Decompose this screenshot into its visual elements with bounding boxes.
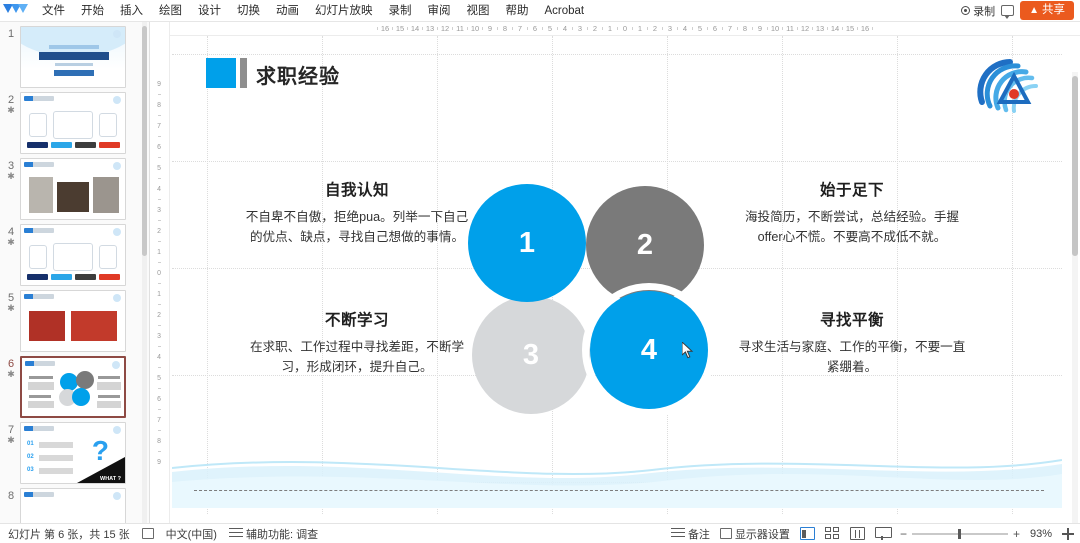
view-normal-icon[interactable] (800, 527, 815, 540)
slide-count-label: 幻灯片 第 6 张，共 15 张 (8, 526, 130, 542)
thumb-card (29, 245, 47, 269)
menu-items: 文件 开始 插入 绘图 设计 切换 动画 幻灯片放映 录制 审阅 视图 帮助 A… (34, 1, 592, 21)
thumb-line (98, 376, 120, 379)
thumb-number-01: 01 (27, 441, 34, 447)
thumb-title-bar (24, 426, 54, 431)
share-icon: ▲ (1029, 4, 1039, 17)
ruler-tick-label: 2 (158, 225, 162, 236)
thumb-line (55, 63, 93, 66)
powerpoint-window: 文件 开始 插入 绘图 设计 切换 动画 幻灯片放映 录制 审阅 视图 帮助 A… (0, 0, 1080, 543)
thumb-number: 6 (4, 356, 18, 370)
thumb-photo (29, 177, 53, 213)
ruler-tick-label: 9 (483, 24, 497, 33)
thumb-photo (57, 182, 89, 212)
ruler-tick-label: 14 (408, 24, 422, 33)
thumb-title-bar (24, 294, 54, 299)
thumb-title-bar (24, 96, 54, 101)
ruler-tick-label: 1 (158, 288, 162, 299)
record-button[interactable]: 录制 (961, 3, 995, 19)
menu-item-animation[interactable]: 动画 (268, 1, 307, 21)
thumb-line (28, 401, 54, 408)
wave-decoration (172, 438, 1062, 508)
ruler-tick-label: 6 (158, 393, 162, 404)
zoom-level-label[interactable]: 93% (1030, 528, 1052, 540)
menu-bar: 文件 开始 插入 绘图 设计 切换 动画 幻灯片放映 录制 审阅 视图 帮助 A… (0, 0, 1080, 22)
ruler-tick-label: 12 (438, 24, 452, 33)
ruler-tick-label: 0 (618, 24, 632, 33)
thumb-number: 4 (4, 224, 18, 238)
list-item[interactable]: 4 ✱ (0, 220, 149, 286)
thumb-logo-icon (113, 294, 121, 302)
thumb-photo (29, 311, 65, 341)
slide-thumbnail-8[interactable] (20, 488, 126, 523)
animation-star-icon: ✱ (4, 238, 18, 246)
text-block-self-awareness[interactable]: 自我认知 不自卑不自傲，拒绝pua。列举一下自己的优点、缺点，寻找自己想做的事情… (242, 178, 472, 247)
guide-line (172, 54, 1062, 55)
ruler-tick-label: 13 (813, 24, 827, 33)
thumb-bar (75, 274, 96, 280)
animation-star-icon: ✱ (4, 106, 18, 114)
list-item[interactable]: 6 ✱ (0, 352, 149, 418)
ruler-tick-label: 9 (753, 24, 767, 33)
thumb-logo-icon (113, 162, 121, 170)
ruler-tick-label: 4 (158, 351, 162, 362)
list-item[interactable]: 5 ✱ (0, 286, 149, 352)
thumb-bar (27, 274, 48, 280)
view-slideshow-icon[interactable] (875, 527, 890, 540)
thumb-bar (51, 274, 72, 280)
ruler-tick-label: 8 (158, 435, 162, 446)
ruler-tick-label: 1 (158, 246, 162, 257)
menu-item-home[interactable]: 开始 (73, 1, 112, 21)
animation-star-icon: ✱ (4, 304, 18, 312)
display-settings-button[interactable]: 显示器设置 (720, 526, 790, 542)
ruler-tick-label: 16 (858, 24, 872, 33)
circle-3[interactable]: 3 (472, 296, 590, 414)
status-left-group: 幻灯片 第 6 张，共 15 张 中文(中国) 辅助功能: 调查 (0, 526, 318, 542)
ruler-tick-label: 5 (543, 24, 557, 33)
thumb-bar (27, 142, 48, 148)
ruler-tick-label: 16 (378, 24, 392, 33)
ruler-tick-label: 10 (768, 24, 782, 33)
thumb-title-bar (25, 361, 55, 366)
ruler-tick-label: 15 (393, 24, 407, 33)
ruler-tick-label: 6 (528, 24, 542, 33)
thumb-number: 5 (4, 290, 18, 304)
ruler-tick-label: 4 (558, 24, 572, 33)
view-reading-icon[interactable] (850, 527, 865, 540)
thumb-card (99, 245, 117, 269)
ruler-tick-label: 1 (633, 24, 647, 33)
thumb-title-bar (24, 492, 54, 497)
comment-icon[interactable] (1001, 5, 1014, 16)
thumb-logo-icon (113, 30, 121, 38)
thumb-card (29, 113, 47, 137)
thumb-logo-icon (113, 426, 121, 434)
thumb-number: 3 (4, 158, 18, 172)
ruler-tick-label: 7 (158, 120, 162, 131)
display-settings-label: 显示器设置 (735, 526, 790, 542)
zoom-knob[interactable] (958, 529, 961, 539)
thumb-bar (99, 142, 120, 148)
thumb-line (97, 401, 121, 408)
thumb-line (49, 45, 99, 49)
animation-star-icon: ✱ (4, 370, 18, 378)
thumb-number: 2 (4, 92, 18, 106)
ruler-tick-label: 4 (678, 24, 692, 33)
menu-item-acrobat[interactable]: Acrobat (537, 1, 593, 21)
status-bar: 幻灯片 第 6 张，共 15 张 中文(中国) 辅助功能: 调查 备注 显示器设… (0, 523, 1080, 543)
block-heading: 始于足下 (737, 178, 967, 200)
ruler-tick-label: 2 (648, 24, 662, 33)
page-title[interactable]: 求职经验 (256, 60, 340, 89)
thumb-number: 7 (4, 422, 18, 436)
display-settings-icon (720, 528, 732, 539)
slide-thumbnail-6[interactable] (20, 356, 126, 418)
menu-item-view[interactable]: 视图 (459, 1, 498, 21)
list-item[interactable]: 3 ✱ (0, 154, 149, 220)
ruler-tick-label: 5 (693, 24, 707, 33)
layout-icon[interactable] (142, 528, 154, 539)
block-body: 不自卑不自傲，拒绝pua。列举一下自己的优点、缺点，寻找自己想做的事情。 (242, 207, 472, 247)
ruler-tick-label: 3 (573, 24, 587, 33)
thumb-logo-icon (113, 228, 121, 236)
notes-icon (671, 528, 685, 539)
ruler-tick-label: 5 (158, 162, 162, 173)
ruler-tick-label: 8 (498, 24, 512, 33)
thumb-circle-2 (76, 371, 94, 389)
list-item[interactable]: 2 ✱ (0, 88, 149, 154)
menu-item-insert[interactable]: 插入 (112, 1, 151, 21)
share-label: 共享 (1042, 4, 1065, 17)
ruler-tick-label: 6 (708, 24, 722, 33)
zoom-slider[interactable]: − + (900, 527, 1020, 541)
block-body: 寻求生活与家庭、工作的平衡，不要一直紧绷着。 (737, 337, 967, 377)
thumb-line (54, 70, 94, 76)
thumb-number: 1 (4, 26, 18, 40)
menu-item-transition[interactable]: 切换 (229, 1, 268, 21)
thumb-bar (51, 142, 72, 148)
menu-item-help[interactable]: 帮助 (498, 1, 537, 21)
block-body: 在求职、工作过程中寻找差距，不断学习，形成闭环，提升自己。 (242, 337, 472, 377)
wps-logo-icon (2, 1, 28, 21)
slide-thumbnail-1[interactable] (20, 26, 126, 88)
slide-thumbnail-7[interactable]: 01 02 03 ? WHAT ? (20, 422, 126, 484)
menu-item-draw[interactable]: 绘图 (151, 1, 190, 21)
ruler-tick-label: 9 (158, 456, 162, 467)
thumb-number-02: 02 (27, 454, 34, 460)
text-block-keep-learning[interactable]: 不断学习 在求职、工作过程中寻找差距，不断学习，形成闭环，提升自己。 (242, 308, 472, 377)
thumb-card (53, 243, 93, 271)
menu-item-review[interactable]: 审阅 (420, 1, 459, 21)
slide-thumbnail-2[interactable] (20, 92, 126, 154)
menu-item-file[interactable]: 文件 (34, 1, 73, 21)
zoom-track[interactable] (912, 533, 1008, 535)
ruler-tick-label: 14 (828, 24, 842, 33)
ruler-tick-label: 12 (798, 24, 812, 33)
menu-right-group: 录制 ▲ 共享 (961, 1, 1080, 20)
thumb-logo-icon (113, 96, 121, 104)
thumb-number-03: 03 (27, 467, 34, 473)
ruler-tick-label: 3 (158, 204, 162, 215)
thumb-circle-4 (72, 388, 90, 406)
ruler-tick-label: 1 (603, 24, 617, 33)
thumb-line (28, 382, 54, 390)
slide-thumbnail-5[interactable] (20, 290, 126, 352)
thumb-photo (71, 311, 117, 341)
slide-thumbnail-4[interactable] (20, 224, 126, 286)
ruler-tick-label: 0 (158, 267, 162, 278)
thumb-bar (75, 142, 96, 148)
block-heading: 不断学习 (242, 308, 472, 330)
list-item[interactable]: 7 ✱ 01 02 03 ? WHAT ? (0, 418, 149, 484)
circle-number: 2 (637, 229, 653, 262)
vertical-ruler[interactable]: 9 8 7 6 5 4 3 2 1 0 1 2 3 4 5 6 7 8 9 (150, 22, 170, 523)
ruler-tick-label: 8 (158, 99, 162, 110)
share-button[interactable]: ▲ 共享 (1020, 1, 1074, 20)
fit-to-window-icon[interactable] (1062, 528, 1074, 540)
thumb-title-bar (24, 162, 54, 167)
ruler-tick-label: 8 (738, 24, 752, 33)
ruler-tick-label: 7 (513, 24, 527, 33)
slide-thumbnail-3[interactable] (20, 158, 126, 220)
animation-star-icon: ✱ (4, 436, 18, 444)
ruler-tick-label: 4 (158, 183, 162, 194)
thumb-logo-icon (112, 361, 120, 369)
notes-label: 备注 (688, 526, 710, 542)
circle-gap-4 (582, 283, 716, 417)
record-dot-icon (961, 6, 970, 15)
block-body: 海投简历，不断尝试，总结经验。手握offer心不慌。不要高不成低不就。 (737, 207, 967, 247)
slide-editing-area[interactable]: 求职经验 自我认知 不自卑不自傲，拒绝p (172, 36, 1062, 514)
language-label[interactable]: 中文(中国) (166, 526, 217, 542)
accessibility-label: 辅助功能: 调查 (246, 526, 318, 542)
menu-item-record[interactable]: 录制 (381, 1, 420, 21)
text-block-start-from-feet[interactable]: 始于足下 海投简历，不断尝试，总结经验。手握offer心不慌。不要高不成低不就。 (737, 178, 967, 247)
ruler-tick-label: 15 (843, 24, 857, 33)
list-item[interactable]: 1 (0, 22, 149, 88)
record-label: 录制 (973, 3, 995, 19)
thumb-title-bar (24, 228, 54, 233)
accessibility-icon (229, 528, 243, 539)
thumb-line (29, 395, 51, 398)
slide-thumbnail-pane[interactable]: 1 2 ✱ (0, 22, 150, 523)
ruler-tick-label: 5 (158, 372, 162, 383)
ruler-tick-label: 3 (663, 24, 677, 33)
canvas-scrollbar-thumb[interactable] (1072, 76, 1078, 256)
thumb-photo (93, 177, 119, 213)
block-heading: 自我认知 (242, 178, 472, 200)
thumb-line (29, 376, 53, 379)
thumb-what-label: WHAT ? (100, 476, 121, 482)
ruler-tick-label: 2 (588, 24, 602, 33)
ruler-tick-label: 3 (158, 330, 162, 341)
circle-number: 3 (523, 339, 539, 372)
zoom-out-button[interactable]: − (900, 527, 907, 541)
thumb-line (39, 468, 73, 474)
thumb-line (39, 52, 109, 60)
ruler-tick-label: 13 (423, 24, 437, 33)
shape-selection-border[interactable] (194, 490, 1044, 492)
text-block-find-balance[interactable]: 寻找平衡 寻求生活与家庭、工作的平衡，不要一直紧绷着。 (737, 308, 967, 377)
animation-star-icon: ✱ (4, 172, 18, 180)
ruler-tick-label: 7 (723, 24, 737, 33)
university-emblem-icon (970, 54, 1044, 120)
thumb-line (98, 395, 120, 398)
menu-item-design[interactable]: 设计 (190, 1, 229, 21)
slide-canvas[interactable]: 求职经验 自我认知 不自卑不自傲，拒绝p (170, 36, 1080, 523)
list-item[interactable]: 8 (0, 484, 149, 523)
thumb-bar (99, 274, 120, 280)
ruler-tick-label: 2 (158, 309, 162, 320)
thumb-card (53, 111, 93, 139)
title-accent-bar (240, 58, 247, 88)
circle-gap-1 (460, 176, 594, 310)
ruler-tick-label: 7 (158, 414, 162, 425)
accessibility-status[interactable]: 辅助功能: 调查 (229, 526, 318, 542)
block-heading: 寻找平衡 (737, 308, 967, 330)
thumb-line (97, 382, 121, 390)
ruler-tick-label: 11 (783, 24, 797, 33)
guide-line (172, 161, 1062, 162)
title-accent-square (206, 58, 236, 88)
ruler-tick-label: 10 (468, 24, 482, 33)
thumb-line (39, 442, 73, 448)
menu-item-slideshow[interactable]: 幻灯片放映 (307, 1, 381, 21)
thumb-logo-icon (113, 492, 121, 500)
zoom-in-button[interactable]: + (1013, 527, 1020, 541)
status-right-group: 备注 显示器设置 − + 93% (671, 526, 1080, 542)
ruler-tick-label: 9 (158, 78, 162, 89)
thumb-line (39, 455, 73, 461)
thumb-card (99, 113, 117, 137)
ruler-tick-label: 11 (453, 24, 467, 33)
horizontal-ruler[interactable]: 16 15 14 13 12 11 10 9 8 7 6 5 4 3 2 1 0… (170, 22, 1080, 36)
thumb-number: 8 (4, 488, 18, 502)
notes-button[interactable]: 备注 (671, 526, 710, 542)
ruler-tick-label: 6 (158, 141, 162, 152)
view-slide-sorter-icon[interactable] (825, 527, 840, 540)
